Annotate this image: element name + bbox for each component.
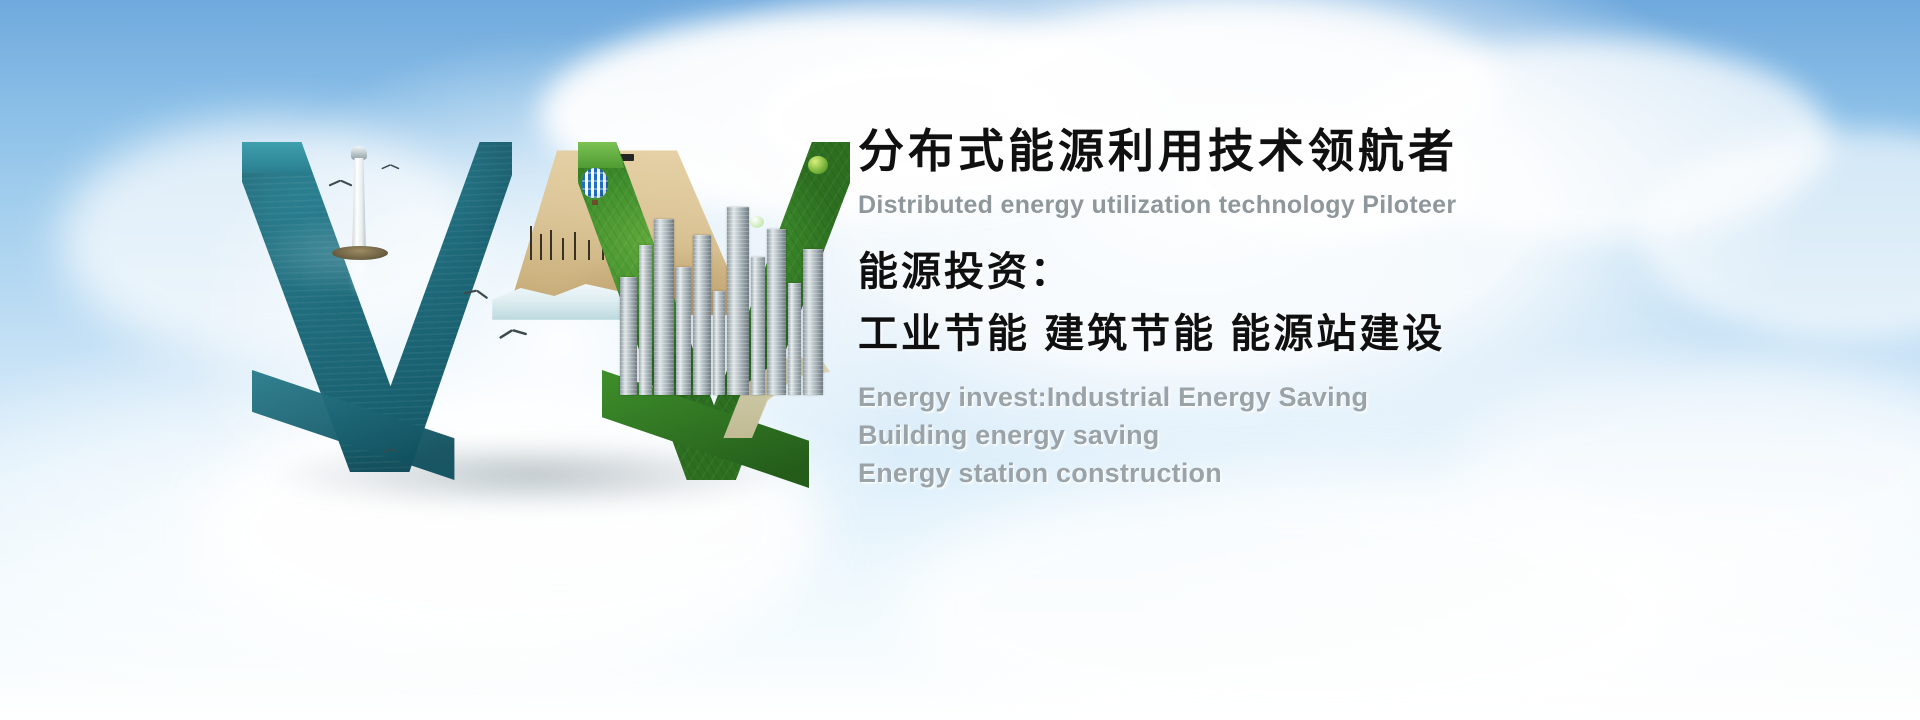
lighthouse-tower [352,158,366,252]
city-skyline-icon [618,180,828,395]
balloon-basket [592,200,598,205]
w-letter-artwork [230,120,850,520]
lighthouse-rock-island [332,246,388,260]
lighthouse-icon [348,142,370,252]
section-label: 能源投资： [858,250,1878,294]
lighthouse-reflection [352,262,366,296]
water-droplet-icon [750,216,764,228]
service-line-2: Building energy saving [858,416,1878,454]
page-subtitle: Distributed energy utilization technolog… [858,191,1878,220]
balloon-envelope [582,168,608,198]
banner-copy: 分布式能源利用技术领航者 Distributed energy utilizat… [858,126,1878,493]
service-line-3: Energy station construction [858,454,1878,492]
cloud-decoration [900,470,1700,720]
services-list-en: Energy invest:Industrial Energy Saving B… [858,378,1878,493]
grass-sphere-decoration [808,156,828,174]
hot-air-balloon-icon [582,168,608,208]
lighthouse-lamp-icon [351,146,367,160]
service-line-1: Energy invest:Industrial Energy Saving [858,378,1878,416]
hero-banner: 分布式能源利用技术领航者 Distributed energy utilizat… [0,0,1920,720]
services-list-cn: 工业节能 建筑节能 能源站建设 [858,312,1878,356]
page-title: 分布式能源利用技术领航者 [858,126,1878,177]
